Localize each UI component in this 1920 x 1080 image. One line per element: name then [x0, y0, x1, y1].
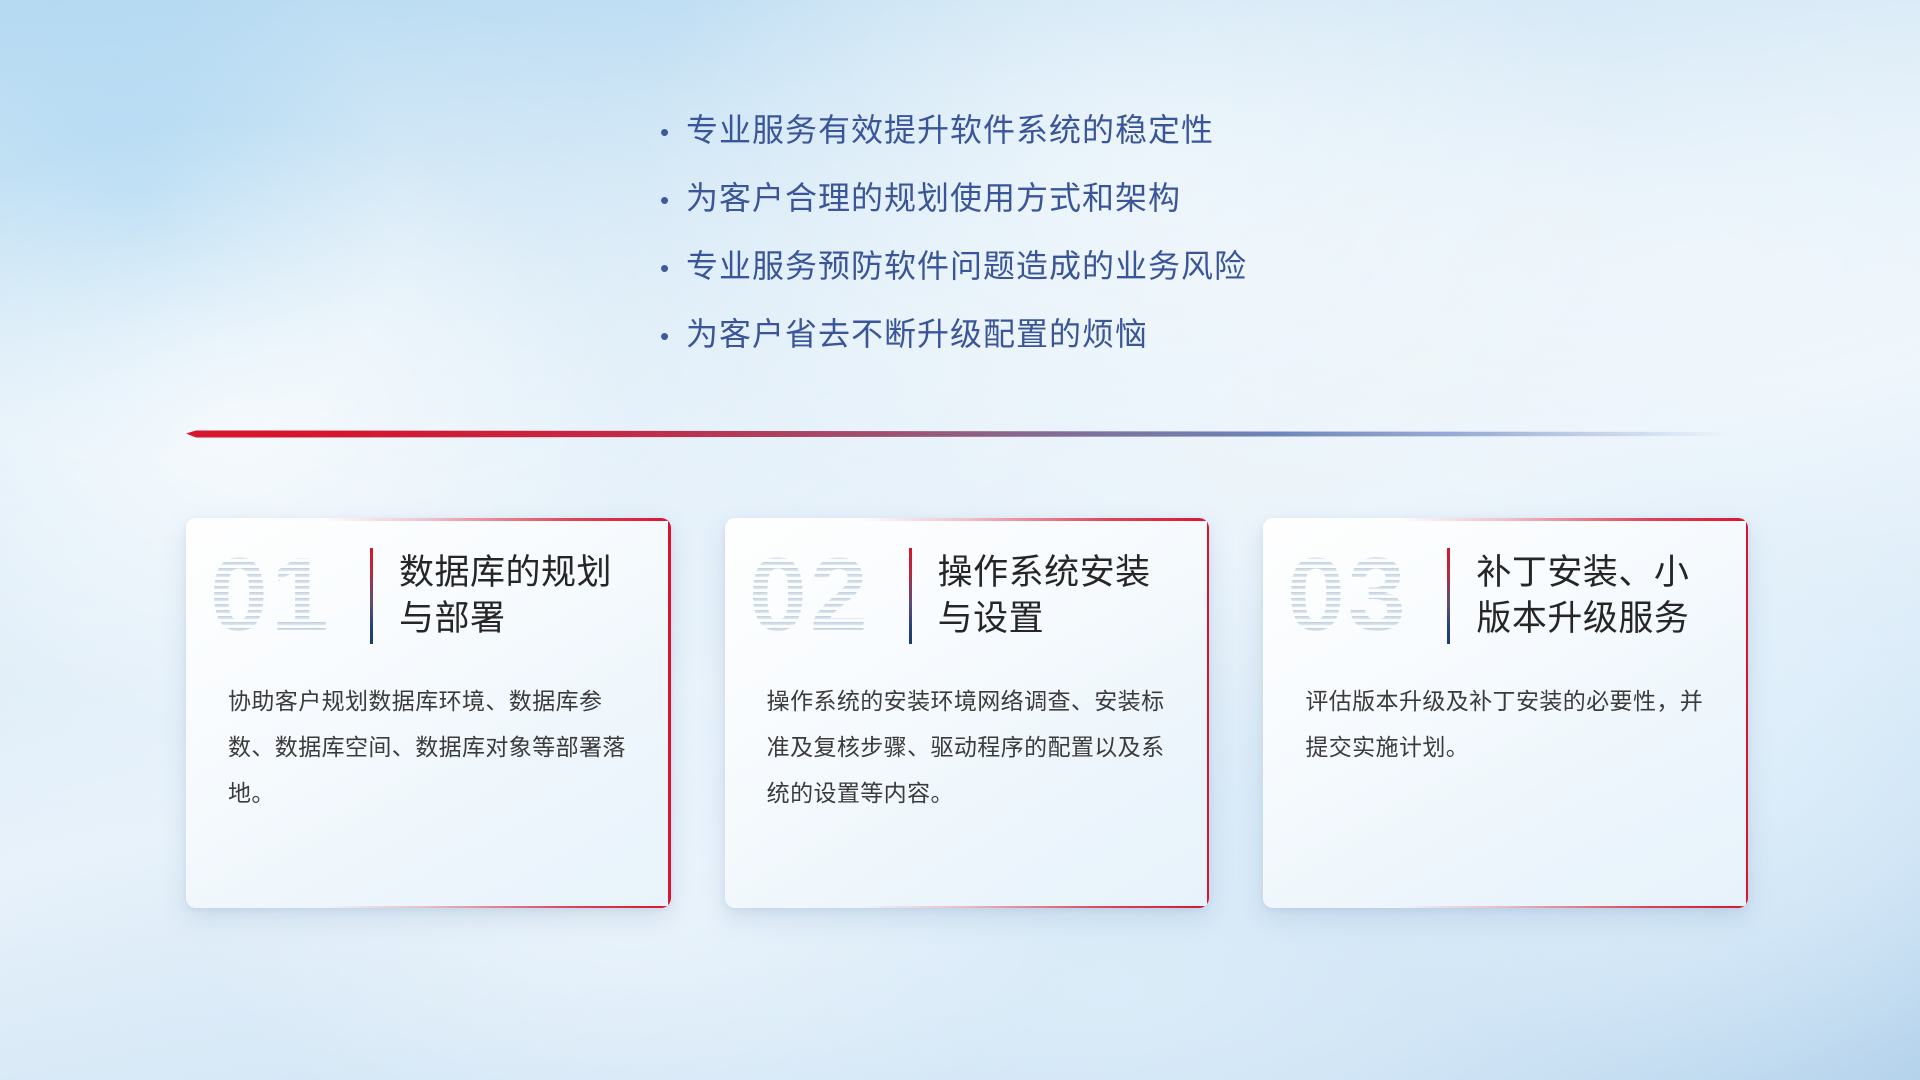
service-card-03[interactable]: 03 补丁安装、小版本升级服务 评估版本升级及补丁安装的必要性，并提交实施计划。: [1263, 518, 1748, 908]
bullet-list: • 专业服务有效提升软件系统的稳定性 • 为客户合理的规划使用方式和架构 • 专…: [660, 110, 1420, 382]
card-header: 02 操作系统安装与设置: [725, 518, 1210, 644]
card-header: 03 补丁安装、小版本升级服务: [1263, 518, 1748, 644]
bullet-text: 为客户合理的规划使用方式和架构: [686, 178, 1181, 218]
slide-canvas: • 专业服务有效提升软件系统的稳定性 • 为客户合理的规划使用方式和架构 • 专…: [0, 0, 1920, 1080]
card-row: 01 数据库的规划与部署 协助客户规划数据库环境、数据库参数、数据库空间、数据库…: [186, 518, 1748, 908]
card-title-divider: [909, 548, 912, 644]
svg-text:01: 01: [210, 544, 332, 648]
section-divider: [186, 424, 1734, 446]
list-item: • 专业服务有效提升软件系统的稳定性: [660, 110, 1420, 150]
card-number-striped-icon: 02: [747, 544, 895, 648]
list-item: • 为客户合理的规划使用方式和架构: [660, 178, 1420, 218]
svg-text:03: 03: [1287, 544, 1409, 648]
card-title: 操作系统安装与设置: [938, 550, 1184, 642]
card-title: 数据库的规划与部署: [399, 550, 645, 642]
tapered-rule-icon: [186, 424, 1734, 446]
card-description: 操作系统的安装环境网络调查、安装标准及复核步骤、驱动程序的配置以及系统的设置等内…: [725, 644, 1210, 816]
list-item: • 专业服务预防软件问题造成的业务风险: [660, 246, 1420, 286]
card-title: 补丁安装、小版本升级服务: [1476, 550, 1722, 642]
card-title-divider: [1447, 548, 1450, 644]
bullet-text: 专业服务预防软件问题造成的业务风险: [686, 246, 1247, 286]
bullet-text: 专业服务有效提升软件系统的稳定性: [686, 110, 1214, 150]
bullet-dot-icon: •: [660, 187, 686, 213]
card-description: 评估版本升级及补丁安装的必要性，并提交实施计划。: [1263, 644, 1748, 770]
card-header: 01 数据库的规划与部署: [186, 518, 671, 644]
bullet-dot-icon: •: [660, 323, 686, 349]
svg-text:02: 02: [749, 544, 871, 648]
card-number-striped-icon: 03: [1285, 544, 1433, 648]
card-title-divider: [370, 548, 373, 644]
bullet-text: 为客户省去不断升级配置的烦恼: [686, 314, 1148, 354]
background-bloom-topleft: [0, 0, 400, 460]
service-card-01[interactable]: 01 数据库的规划与部署 协助客户规划数据库环境、数据库参数、数据库空间、数据库…: [186, 518, 671, 908]
service-card-02[interactable]: 02 操作系统安装与设置 操作系统的安装环境网络调查、安装标准及复核步骤、驱动程…: [725, 518, 1210, 908]
list-item: • 为客户省去不断升级配置的烦恼: [660, 314, 1420, 354]
card-description: 协助客户规划数据库环境、数据库参数、数据库空间、数据库对象等部署落地。: [186, 644, 671, 816]
bullet-dot-icon: •: [660, 119, 686, 145]
card-number-striped-icon: 01: [208, 544, 356, 648]
bullet-dot-icon: •: [660, 255, 686, 281]
